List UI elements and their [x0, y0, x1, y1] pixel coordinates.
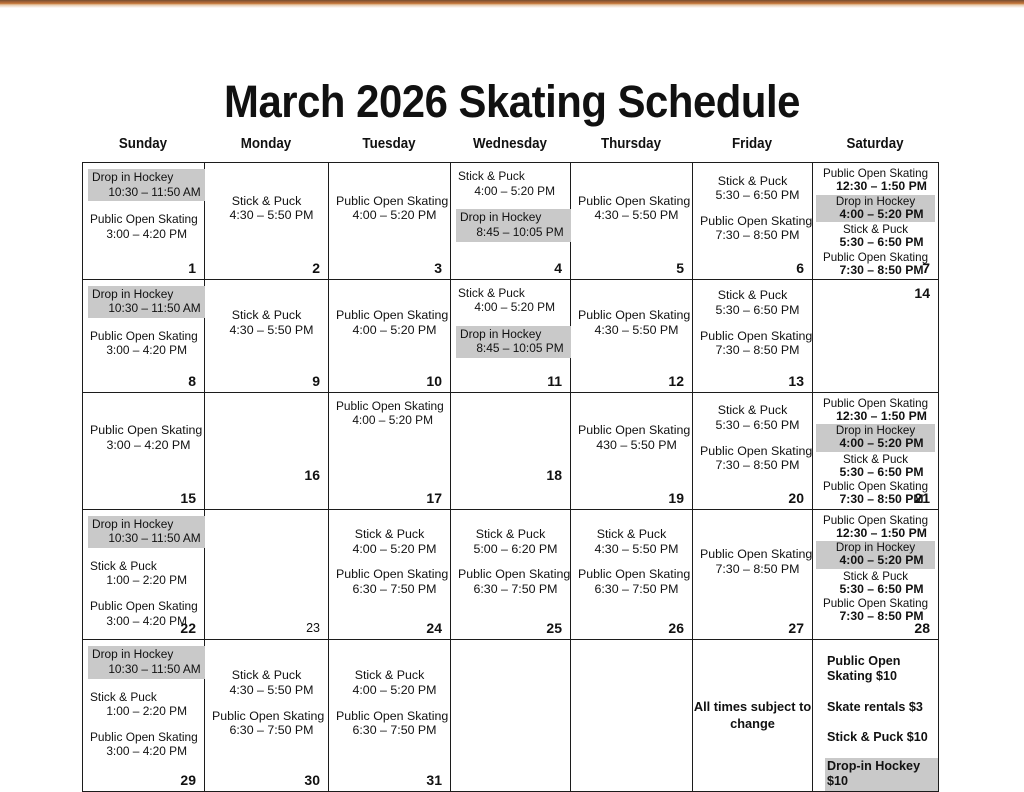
- event-label: Public Open Skating: [578, 194, 685, 209]
- price-item: Skate rentals $3: [827, 700, 923, 715]
- event-time: 12:30 – 1:50 PM: [819, 180, 932, 194]
- day-number: 14: [914, 285, 930, 301]
- day-cell-30[interactable]: Stick & Puck4:30 – 5:50 PMPublic Open Sk…: [205, 640, 329, 792]
- schedule-event: Drop in Hockey4:00 – 5:20 PM: [816, 195, 935, 223]
- event-label: Public Open Skating: [212, 709, 321, 724]
- event-time: 12:30 – 1:50 PM: [819, 527, 932, 541]
- schedule-event: Public Open Skating12:30 – 1:50 PM: [819, 167, 932, 194]
- schedule-event: Public Open Skating430 – 5:50 PM: [578, 423, 685, 452]
- schedule-event: Drop in Hockey4:00 – 5:20 PM: [816, 541, 935, 569]
- event-time: 1:00 – 2:20 PM: [90, 704, 193, 719]
- event-label: Stick & Puck: [336, 668, 443, 683]
- event-label: Stick & Puck: [578, 527, 685, 542]
- day-cell-content: Drop in Hockey10:30 – 11:50 AMStick & Pu…: [83, 510, 204, 640]
- schedule-event: Public Open Skating3:00 – 4:20 PM: [90, 329, 197, 358]
- day-number: 13: [788, 373, 804, 389]
- day-number: 15: [180, 490, 196, 506]
- event-time: 5:30 – 6:50 PM: [819, 466, 932, 480]
- event-time: 6:30 – 7:50 PM: [578, 582, 685, 597]
- event-label: Drop in Hockey: [819, 195, 932, 208]
- day-number: 18: [546, 467, 562, 483]
- schedule-event: Public Open Skating6:30 – 7:50 PM: [336, 709, 443, 738]
- event-time: 5:00 – 6:20 PM: [458, 542, 563, 557]
- price-item: Stick & Puck $10: [827, 730, 928, 745]
- event-time: 4:00 – 5:20 PM: [336, 323, 443, 338]
- day-number: 3: [434, 260, 442, 276]
- event-label: Public Open Skating: [336, 308, 443, 323]
- day-cell-20[interactable]: Stick & Puck5:30 – 6:50 PMPublic Open Sk…: [693, 392, 813, 509]
- day-cell-5[interactable]: Public Open Skating4:30 – 5:50 PM5: [571, 163, 693, 280]
- day-number: 25: [546, 620, 562, 636]
- day-cell-content: Stick & Puck4:30 – 5:50 PMPublic Open Sk…: [205, 640, 328, 791]
- schedule-event: Public Open Skating4:00 – 5:20 PM: [336, 308, 443, 337]
- day-cell-content: Drop in Hockey10:30 – 11:50 AMStick & Pu…: [83, 640, 204, 791]
- event-time: 4:00 – 5:20 PM: [336, 683, 443, 698]
- schedule-event: Stick & Puck5:30 – 6:50 PM: [700, 288, 805, 317]
- event-time: 5:30 – 6:50 PM: [819, 583, 932, 597]
- day-number: 11: [547, 373, 562, 389]
- day-cell-23[interactable]: 23: [205, 509, 329, 640]
- day-number: 26: [668, 620, 684, 636]
- day-cell-content: Public Open Skating12:30 – 1:50 PMDrop i…: [813, 510, 938, 640]
- calendar-grid: Drop in Hockey10:30 – 11:50 AMPublic Ope…: [82, 162, 939, 792]
- event-time: 7:30 – 8:50 PM: [700, 228, 805, 243]
- schedule-event: Public Open Skating6:30 – 7:50 PM: [212, 709, 321, 738]
- day-cell-14[interactable]: 14: [813, 279, 939, 392]
- event-time: 4:00 – 5:20 PM: [336, 413, 439, 428]
- day-cell-22[interactable]: Drop in Hockey10:30 – 11:50 AMStick & Pu…: [83, 509, 205, 640]
- day-cell-12[interactable]: Public Open Skating4:30 – 5:50 PM12: [571, 279, 693, 392]
- event-label: Stick & Puck: [212, 308, 321, 323]
- day-number: 7: [922, 260, 930, 276]
- event-label: Stick & Puck: [700, 288, 805, 303]
- event-label: Stick & Puck: [212, 194, 321, 209]
- schedule-event: Stick & Puck5:30 – 6:50 PM: [819, 570, 932, 597]
- event-time: 4:30 – 5:50 PM: [212, 683, 321, 698]
- weekday-label-sunday: Sunday: [87, 136, 199, 152]
- schedule-event: Drop in Hockey8:45 – 10:05 PM: [456, 209, 571, 241]
- day-number: 8: [188, 373, 196, 389]
- weekday-label-thursday: Thursday: [575, 136, 687, 152]
- day-number: 30: [304, 772, 320, 788]
- day-cell-3[interactable]: Public Open Skating4:00 – 5:20 PM3: [329, 163, 451, 280]
- day-number: 2: [312, 260, 320, 276]
- day-cell-content: Stick & Puck5:30 – 6:50 PMPublic Open Sk…: [693, 163, 812, 279]
- event-time: 4:00 – 5:20 PM: [819, 437, 932, 451]
- event-time: 4:30 – 5:50 PM: [578, 208, 685, 223]
- day-cell-content: [571, 640, 692, 791]
- schedule-event: Stick & Puck1:00 – 2:20 PM: [90, 559, 197, 588]
- pricing-cell[interactable]: Public OpenSkating $10Skate rentals $3St…: [813, 640, 939, 792]
- event-label: Stick & Puck: [90, 690, 193, 705]
- day-cell-content: Stick & Puck5:30 – 6:50 PMPublic Open Sk…: [693, 280, 812, 392]
- day-cell-content: Stick & Puck4:00 – 5:20 PMDrop in Hockey…: [451, 280, 570, 392]
- day-cell-content: Public Open Skating3:00 – 4:20 PM15: [83, 393, 204, 509]
- event-time: 12:30 – 1:50 PM: [819, 410, 932, 424]
- event-label: Drop in Hockey: [92, 647, 201, 662]
- event-time: 5:30 – 6:50 PM: [700, 188, 805, 203]
- day-cell-9[interactable]: Stick & Puck4:30 – 5:50 PM9: [205, 279, 329, 392]
- event-label: Stick & Puck: [819, 570, 932, 583]
- event-time: 1:00 – 2:20 PM: [90, 573, 193, 588]
- event-time: 10:30 – 11:50 AM: [92, 531, 201, 546]
- day-number: 1: [188, 260, 196, 276]
- day-cell-content: Stick & Puck4:00 – 5:20 PMPublic Open Sk…: [329, 640, 450, 791]
- event-label: Public Open Skating: [700, 214, 805, 229]
- day-cell-content: Public Open Skating4:00 – 5:20 PM17: [329, 393, 450, 509]
- weekday-label-tuesday: Tuesday: [333, 136, 445, 152]
- schedule-note: All times subject to change: [693, 640, 812, 791]
- event-time: 7:30 – 8:50 PM: [700, 562, 805, 577]
- event-time: 4:00 – 5:20 PM: [336, 542, 443, 557]
- day-number: 24: [426, 620, 442, 636]
- event-label: Stick & Puck: [458, 286, 559, 301]
- schedule-event: Public Open Skating7:30 – 8:50 PM: [700, 214, 805, 243]
- day-cell-content: Public Open Skating7:30 – 8:50 PM27: [693, 510, 812, 640]
- event-label: Public Open Skating: [458, 567, 563, 582]
- event-time: 3:00 – 4:20 PM: [90, 744, 193, 759]
- event-time: 4:00 – 5:20 PM: [458, 184, 559, 199]
- event-label: Stick & Puck: [458, 527, 563, 542]
- event-label: Public Open Skating: [700, 444, 805, 459]
- event-time: 4:30 – 5:50 PM: [212, 208, 321, 223]
- day-number: 20: [788, 490, 804, 506]
- price-item: Public OpenSkating $10: [827, 654, 900, 684]
- schedule-event: Public Open Skating4:00 – 5:20 PM: [336, 194, 443, 223]
- day-cell-8[interactable]: Drop in Hockey10:30 – 11:50 AMPublic Ope…: [83, 279, 205, 392]
- schedule-event: Drop in Hockey4:00 – 5:20 PM: [816, 424, 935, 452]
- day-cell-content: Drop in Hockey10:30 – 11:50 AMPublic Ope…: [83, 163, 204, 279]
- event-time: 430 – 5:50 PM: [578, 438, 685, 453]
- day-number: 23: [306, 621, 320, 635]
- schedule-event: Public Open Skating7:30 – 8:50 PM: [700, 329, 805, 358]
- day-cell-content: Stick & Puck4:00 – 5:20 PMDrop in Hockey…: [451, 163, 570, 279]
- event-time: 4:00 – 5:20 PM: [819, 208, 932, 222]
- event-label: Stick & Puck: [700, 403, 805, 418]
- page-title: March 2026 Skating Schedule: [36, 76, 988, 128]
- weekday-label-saturday: Saturday: [817, 136, 933, 152]
- calendar-week-row: Drop in Hockey10:30 – 11:50 AMStick & Pu…: [83, 509, 939, 640]
- schedule-event: Public Open Skating4:30 – 5:50 PM: [578, 194, 685, 223]
- event-time: 6:30 – 7:50 PM: [336, 582, 443, 597]
- event-label: Stick & Puck: [458, 169, 559, 184]
- day-cell-29[interactable]: Drop in Hockey10:30 – 11:50 AMStick & Pu…: [83, 640, 205, 792]
- calendar-week-row: Drop in Hockey10:30 – 11:50 AMStick & Pu…: [83, 640, 939, 792]
- day-cell-11[interactable]: Stick & Puck4:00 – 5:20 PMDrop in Hockey…: [451, 279, 571, 392]
- schedule-event: Public Open Skating6:30 – 7:50 PM: [336, 567, 443, 596]
- event-time: 4:00 – 5:20 PM: [336, 208, 443, 223]
- schedule-event: Stick & Puck4:30 – 5:50 PM: [212, 308, 321, 337]
- event-time: 10:30 – 11:50 AM: [92, 301, 201, 316]
- day-number: 4: [554, 260, 562, 276]
- schedule-event: Public Open Skating7:30 – 8:50 PM: [700, 444, 805, 473]
- day-cell-6[interactable]: Stick & Puck5:30 – 6:50 PMPublic Open Sk…: [693, 163, 813, 280]
- schedule-event: Drop in Hockey8:45 – 10:05 PM: [456, 326, 571, 358]
- day-cell-content: Stick & Puck4:30 – 5:50 PM9: [205, 280, 328, 392]
- event-time: 5:30 – 6:50 PM: [700, 303, 805, 318]
- day-cell-1[interactable]: Drop in Hockey10:30 – 11:50 AMPublic Ope…: [83, 163, 205, 280]
- event-label: Drop in Hockey: [460, 327, 564, 342]
- day-cell-19[interactable]: Public Open Skating430 – 5:50 PM19: [571, 392, 693, 509]
- event-label: Public Open Skating: [578, 308, 685, 323]
- day-cell-28[interactable]: Public Open Skating12:30 – 1:50 PMDrop i…: [813, 509, 939, 640]
- event-label: Stick & Puck: [336, 527, 443, 542]
- event-label: Public Open Skating: [819, 251, 932, 264]
- day-number: 17: [426, 490, 442, 506]
- event-time: 5:30 – 6:50 PM: [700, 418, 805, 433]
- event-label: Stick & Puck: [819, 453, 932, 466]
- event-label: Public Open Skating: [578, 567, 685, 582]
- event-label: Public Open Skating: [90, 329, 193, 344]
- event-time: 4:30 – 5:50 PM: [578, 542, 685, 557]
- day-number: 29: [180, 772, 196, 788]
- day-cell-13[interactable]: Stick & Puck5:30 – 6:50 PMPublic Open Sk…: [693, 279, 813, 392]
- day-cell-18[interactable]: 18: [451, 392, 571, 509]
- schedule-event: Public Open Skating7:30 – 8:50 PM: [819, 251, 932, 278]
- event-time: 8:45 – 10:05 PM: [460, 341, 564, 356]
- weekday-header-row: Sunday Monday Tuesday Wednesday Thursday…: [82, 136, 938, 152]
- day-cell-content: 16: [205, 393, 328, 509]
- schedule-event: Stick & Puck4:30 – 5:50 PM: [578, 527, 685, 556]
- event-label: Stick & Puck: [90, 559, 193, 574]
- event-label: Public Open Skating: [578, 423, 685, 438]
- notes-cell[interactable]: All times subject to change: [693, 640, 813, 792]
- event-label: Public Open Skating: [90, 730, 193, 745]
- event-label: Public Open Skating: [819, 397, 932, 410]
- schedule-event: Stick & Puck5:30 – 6:50 PM: [819, 223, 932, 250]
- day-cell-empty[interactable]: [571, 640, 693, 792]
- day-cell-content: Public Open Skating12:30 – 1:50 PMDrop i…: [813, 393, 938, 509]
- schedule-event: Drop in Hockey10:30 – 11:50 AM: [88, 646, 208, 678]
- weekday-label-wednesday: Wednesday: [455, 136, 565, 152]
- schedule-event: Stick & Puck4:00 – 5:20 PM: [458, 286, 563, 315]
- day-cell-content: Public Open Skating4:30 – 5:50 PM5: [571, 163, 692, 279]
- event-time: 8:45 – 10:05 PM: [460, 225, 564, 240]
- event-label: Public Open Skating: [700, 547, 805, 562]
- day-cell-content: 14: [813, 280, 938, 392]
- day-number: 21: [914, 490, 930, 506]
- calendar-week-row: Drop in Hockey10:30 – 11:50 AMPublic Ope…: [83, 163, 939, 280]
- day-cell-27[interactable]: Public Open Skating7:30 – 8:50 PM27: [693, 509, 813, 640]
- day-number: 31: [426, 772, 442, 788]
- event-label: Drop in Hockey: [92, 287, 201, 302]
- schedule-event: Stick & Puck5:00 – 6:20 PM: [458, 527, 563, 556]
- schedule-event: Public Open Skating3:00 – 4:20 PM: [90, 212, 197, 241]
- day-cell-7[interactable]: Public Open Skating12:30 – 1:50 PMDrop i…: [813, 163, 939, 280]
- event-label: Stick & Puck: [212, 668, 321, 683]
- event-label: Public Open Skating: [90, 599, 193, 614]
- schedule-event: Public Open Skating3:00 – 4:20 PM: [90, 423, 197, 452]
- event-time: 7:30 – 8:50 PM: [700, 458, 805, 473]
- day-cell-content: Public Open Skating12:30 – 1:50 PMDrop i…: [813, 163, 938, 279]
- day-cell-10[interactable]: Public Open Skating4:00 – 5:20 PM10: [329, 279, 451, 392]
- schedule-event: Stick & Puck1:00 – 2:20 PM: [90, 690, 197, 719]
- day-cell-16[interactable]: 16: [205, 392, 329, 509]
- weekday-label-monday: Monday: [209, 136, 323, 152]
- event-label: Public Open Skating: [819, 514, 932, 527]
- event-label: Public Open Skating: [90, 423, 197, 438]
- event-label: Public Open Skating: [336, 194, 443, 209]
- schedule-event: Drop in Hockey10:30 – 11:50 AM: [88, 286, 208, 318]
- event-time: 3:00 – 4:20 PM: [90, 438, 197, 453]
- day-cell-25[interactable]: Stick & Puck5:00 – 6:20 PMPublic Open Sk…: [451, 509, 571, 640]
- event-time: 4:30 – 5:50 PM: [212, 323, 321, 338]
- event-time: 4:00 – 5:20 PM: [819, 554, 932, 568]
- day-number: 10: [426, 373, 442, 389]
- event-time: 3:00 – 4:20 PM: [90, 343, 193, 358]
- event-time: 4:00 – 5:20 PM: [458, 300, 559, 315]
- day-cell-17[interactable]: Public Open Skating4:00 – 5:20 PM17: [329, 392, 451, 509]
- schedule-event: Stick & Puck4:30 – 5:50 PM: [212, 668, 321, 697]
- day-number: 28: [914, 620, 930, 636]
- event-label: Drop in Hockey: [460, 210, 564, 225]
- event-time: 4:30 – 5:50 PM: [578, 323, 685, 338]
- day-cell-24[interactable]: Stick & Puck4:00 – 5:20 PMPublic Open Sk…: [329, 509, 451, 640]
- day-cell-15[interactable]: Public Open Skating3:00 – 4:20 PM15: [83, 392, 205, 509]
- day-cell-26[interactable]: Stick & Puck4:30 – 5:50 PMPublic Open Sk…: [571, 509, 693, 640]
- event-label: Stick & Puck: [700, 174, 805, 189]
- schedule-event: Stick & Puck4:00 – 5:20 PM: [336, 668, 443, 697]
- event-time: 5:30 – 6:50 PM: [819, 236, 932, 250]
- day-cell-content: Stick & Puck4:00 – 5:20 PMPublic Open Sk…: [329, 510, 450, 640]
- event-time: 6:30 – 7:50 PM: [336, 723, 443, 738]
- day-cell-content: [451, 640, 570, 791]
- price-list: Public OpenSkating $10Skate rentals $3St…: [813, 640, 938, 791]
- day-cell-content: Public Open Skating430 – 5:50 PM19: [571, 393, 692, 509]
- schedule-event: Public Open Skating7:30 – 8:50 PM: [700, 547, 805, 576]
- event-time: 3:00 – 4:20 PM: [90, 614, 193, 629]
- day-cell-content: Public Open Skating4:30 – 5:50 PM12: [571, 280, 692, 392]
- price-item: Drop-in Hockey $10: [825, 758, 938, 791]
- day-cell-content: Drop in Hockey10:30 – 11:50 AMPublic Ope…: [83, 280, 204, 392]
- schedule-event: Stick & Puck5:30 – 6:50 PM: [700, 403, 805, 432]
- schedule-event: Public Open Skating4:00 – 5:20 PM: [336, 399, 443, 428]
- day-number: 9: [312, 373, 320, 389]
- day-number: 5: [676, 260, 684, 276]
- event-time: 6:30 – 7:50 PM: [212, 723, 321, 738]
- schedule-event: Drop in Hockey10:30 – 11:50 AM: [88, 169, 208, 201]
- event-time: 7:30 – 8:50 PM: [819, 264, 932, 278]
- day-cell-content: Stick & Puck5:00 – 6:20 PMPublic Open Sk…: [451, 510, 570, 640]
- day-cell-content: Public Open Skating4:00 – 5:20 PM10: [329, 280, 450, 392]
- schedule-event: Stick & Puck5:30 – 6:50 PM: [819, 453, 932, 480]
- day-cell-content: Stick & Puck5:30 – 6:50 PMPublic Open Sk…: [693, 393, 812, 509]
- schedule-event: Stick & Puck4:00 – 5:20 PM: [336, 527, 443, 556]
- day-number: 22: [180, 620, 196, 636]
- day-number: 16: [304, 467, 320, 483]
- schedule-event: Public Open Skating12:30 – 1:50 PM: [819, 514, 932, 541]
- schedule-event: Public Open Skating4:30 – 5:50 PM: [578, 308, 685, 337]
- calendar-page: March 2026 Skating Schedule Sunday Monda…: [0, 0, 1024, 791]
- schedule-event: Public Open Skating3:00 – 4:20 PM: [90, 730, 197, 759]
- event-label: Public Open Skating: [336, 709, 443, 724]
- event-time: 10:30 – 11:50 AM: [92, 185, 201, 200]
- schedule-event: Stick & Puck5:30 – 6:50 PM: [700, 174, 805, 203]
- event-time: 6:30 – 7:50 PM: [458, 582, 563, 597]
- schedule-event: Public Open Skating6:30 – 7:50 PM: [458, 567, 563, 596]
- day-cell-2[interactable]: Stick & Puck4:30 – 5:50 PM2: [205, 163, 329, 280]
- day-number: 27: [788, 620, 804, 636]
- day-cell-content: Stick & Puck4:30 – 5:50 PMPublic Open Sk…: [571, 510, 692, 640]
- day-cell-4[interactable]: Stick & Puck4:00 – 5:20 PMDrop in Hockey…: [451, 163, 571, 280]
- day-cell-content: Stick & Puck4:30 – 5:50 PM2: [205, 163, 328, 279]
- calendar-week-row: Drop in Hockey10:30 – 11:50 AMPublic Ope…: [83, 279, 939, 392]
- schedule-event: Stick & Puck4:00 – 5:20 PM: [458, 169, 563, 198]
- event-label: Public Open Skating: [700, 329, 805, 344]
- day-cell-empty[interactable]: [451, 640, 571, 792]
- event-label: Drop in Hockey: [92, 170, 201, 185]
- day-number: 12: [668, 373, 684, 389]
- schedule-event: Stick & Puck4:30 – 5:50 PM: [212, 194, 321, 223]
- event-label: Public Open Skating: [336, 399, 439, 414]
- event-time: 10:30 – 11:50 AM: [92, 662, 201, 677]
- schedule-event: Drop in Hockey10:30 – 11:50 AM: [88, 516, 208, 548]
- day-cell-content: 18: [451, 393, 570, 509]
- event-time: 7:30 – 8:50 PM: [700, 343, 805, 358]
- event-label: Public Open Skating: [336, 567, 443, 582]
- schedule-event: Public Open Skating12:30 – 1:50 PM: [819, 397, 932, 424]
- event-label: Public Open Skating: [90, 212, 193, 227]
- weekday-label-friday: Friday: [697, 136, 807, 152]
- day-number: 19: [668, 490, 684, 506]
- calendar-week-row: Public Open Skating3:00 – 4:20 PM1516Pub…: [83, 392, 939, 509]
- day-cell-31[interactable]: Stick & Puck4:00 – 5:20 PMPublic Open Sk…: [329, 640, 451, 792]
- day-number: 6: [796, 260, 804, 276]
- day-cell-content: 23: [205, 510, 328, 640]
- schedule-event: Public Open Skating6:30 – 7:50 PM: [578, 567, 685, 596]
- event-time: 3:00 – 4:20 PM: [90, 227, 193, 242]
- day-cell-21[interactable]: Public Open Skating12:30 – 1:50 PMDrop i…: [813, 392, 939, 509]
- day-cell-content: Public Open Skating4:00 – 5:20 PM3: [329, 163, 450, 279]
- event-label: Drop in Hockey: [92, 517, 201, 532]
